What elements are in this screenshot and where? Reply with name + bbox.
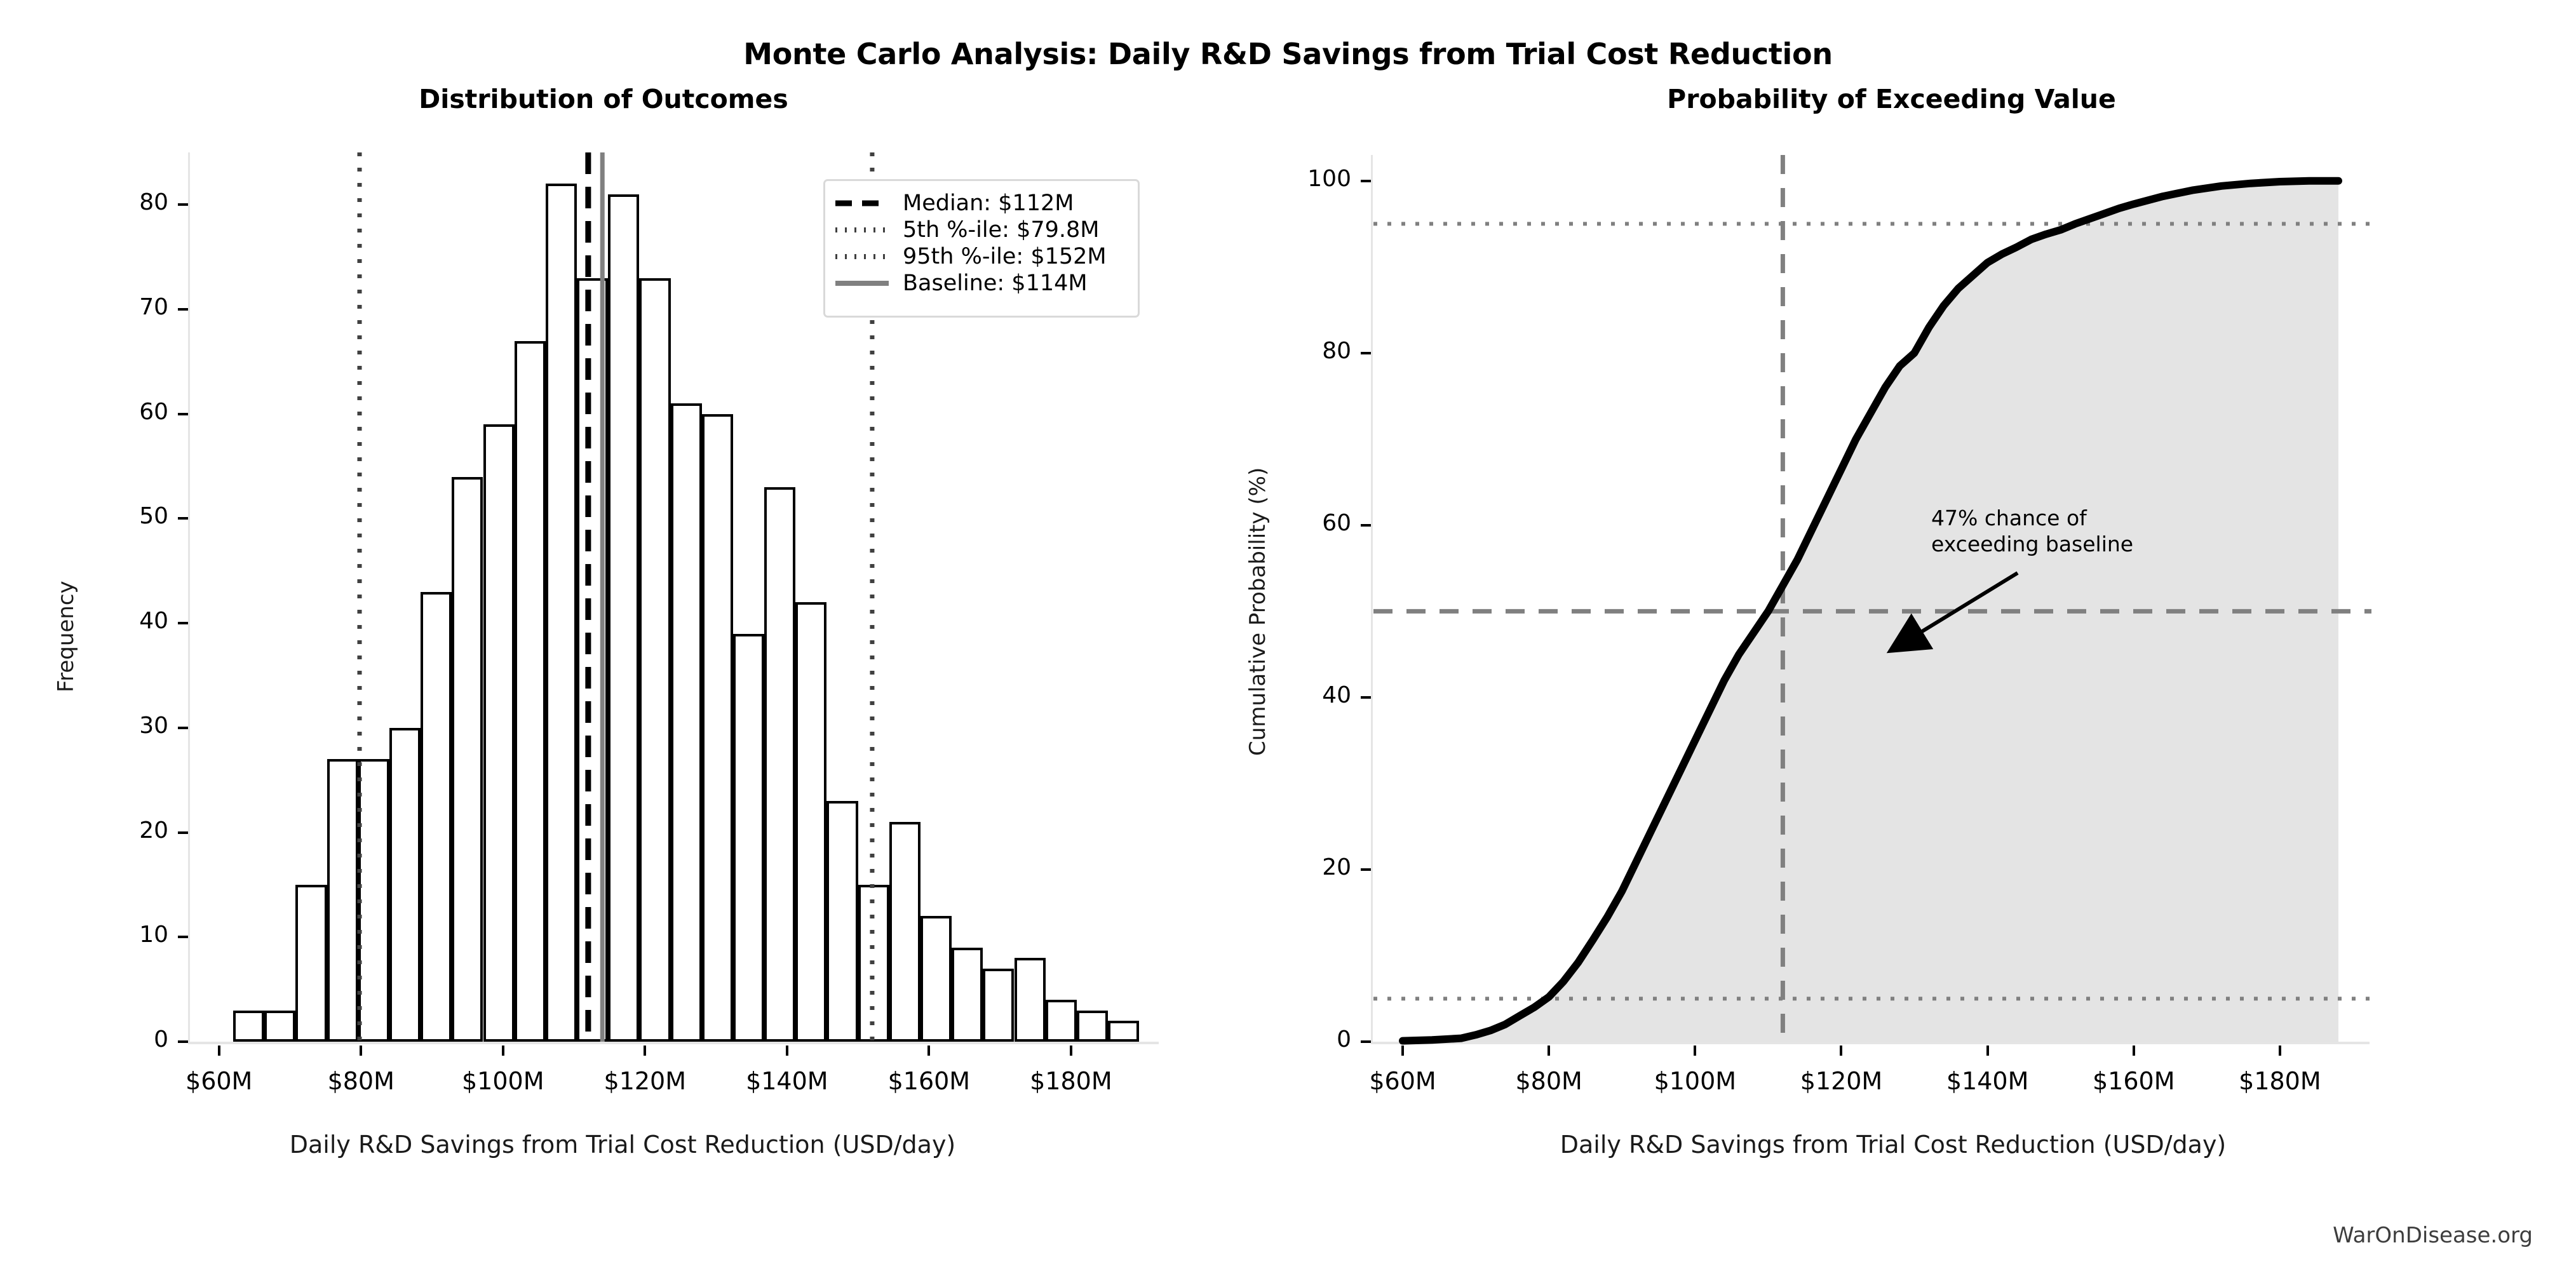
histogram-y-tick: [178, 936, 188, 938]
cdf-annotation-arrow: [1868, 565, 2033, 667]
cdf-y-tick-label: 100: [1253, 166, 1351, 192]
legend-label-p95: 95th %-ile: $152M: [903, 246, 1107, 268]
histogram-x-spine: [188, 1042, 1159, 1044]
legend-item-baseline: Baseline: $114M: [834, 270, 1126, 297]
cdf-y-spine: [1371, 155, 1373, 1042]
baseline-line-swatch: [834, 275, 890, 292]
cdf-y-tick: [1361, 696, 1371, 699]
cdf-y-tick: [1361, 1040, 1371, 1043]
histogram-y-tick-label: 50: [76, 503, 168, 529]
cdf-y-tick-label: 20: [1253, 854, 1351, 880]
histogram-y-tick: [178, 831, 188, 834]
cdf-x-axis-label: Daily R&D Savings from Trial Cost Reduct…: [1290, 1131, 2497, 1159]
p95-line-swatch: [834, 248, 890, 265]
histogram-y-tick-label: 20: [76, 817, 168, 844]
cdf-y-tick: [1361, 868, 1371, 871]
cdf-x-tick: [1694, 1046, 1696, 1056]
cdf-y-tick-label: 0: [1253, 1026, 1351, 1052]
legend-item-p95: 95th %-ile: $152M: [834, 243, 1126, 270]
histogram-y-tick: [178, 622, 188, 624]
histogram-y-tick-label: 70: [76, 294, 168, 320]
histogram-x-tick: [218, 1046, 220, 1056]
cdf-x-tick: [1986, 1046, 1989, 1056]
cdf-x-tick: [2133, 1046, 2135, 1056]
histogram-x-tick: [360, 1046, 362, 1056]
histogram-y-tick: [178, 1040, 188, 1043]
histogram-x-tick: [1070, 1046, 1072, 1056]
histogram-y-tick-label: 30: [76, 713, 168, 739]
cdf-x-tick: [2279, 1046, 2281, 1056]
histogram-x-tick-label: $180M: [976, 1067, 1166, 1095]
median-line-swatch: [834, 195, 890, 212]
cdf-annotation: 47% chance of exceeding baseline: [1931, 505, 2133, 558]
histogram-legend: Median: $112M 5th %-ile: $79.8M 95th %-i…: [823, 179, 1140, 318]
p5-line-swatch: [834, 222, 890, 238]
cdf-title: Probability of Exceeding Value: [1207, 84, 2576, 114]
cdf-y-tick-label: 40: [1253, 682, 1351, 708]
cdf-y-tick: [1361, 180, 1371, 182]
histogram-y-tick: [178, 727, 188, 729]
histogram-y-tick: [178, 413, 188, 415]
cdf-x-tick: [1548, 1046, 1550, 1056]
histogram-y-tick-label: 80: [76, 189, 168, 215]
histogram-y-tick-label: 0: [76, 1026, 168, 1052]
histogram-x-tick: [502, 1046, 504, 1056]
cdf-x-spine: [1371, 1042, 2370, 1044]
cdf-x-tick-label: $180M: [2185, 1067, 2375, 1095]
cdf-x-tick: [1401, 1046, 1404, 1056]
histogram-x-tick: [644, 1046, 646, 1056]
cdf-y-tick: [1361, 524, 1371, 527]
cdf-y-tick-label: 60: [1253, 510, 1351, 536]
histogram-title: Distribution of Outcomes: [0, 84, 1207, 114]
histogram-x-axis-label: Daily R&D Savings from Trial Cost Reduct…: [89, 1131, 1156, 1159]
figure-root: Monte Carlo Analysis: Daily R&D Savings …: [0, 0, 2576, 1271]
cdf-annotation-line1: 47% chance of: [1931, 505, 2133, 531]
cdf-y-tick-label: 80: [1253, 338, 1351, 364]
legend-label-median: Median: $112M: [903, 192, 1074, 215]
histogram-y-tick-label: 40: [76, 608, 168, 634]
cdf-x-tick: [1840, 1046, 1842, 1056]
histogram-y-spine: [188, 152, 190, 1042]
legend-item-median: Median: $112M: [834, 190, 1126, 217]
histogram-y-tick: [178, 517, 188, 520]
legend-item-p5: 5th %-ile: $79.8M: [834, 217, 1126, 243]
histogram-y-tick: [178, 308, 188, 311]
legend-label-baseline: Baseline: $114M: [903, 272, 1088, 295]
cdf-y-tick: [1361, 352, 1371, 354]
histogram-y-tick: [178, 203, 188, 206]
histogram-x-tick: [786, 1046, 788, 1056]
histogram-y-axis-label: Frequency: [53, 581, 79, 692]
histogram-y-tick-label: 60: [76, 399, 168, 425]
histogram-y-tick-label: 10: [76, 922, 168, 948]
cdf-panel: Probability of Exceeding Value Cumulativ…: [1207, 0, 2576, 1271]
footer-watermark: WarOnDisease.org: [2333, 1223, 2533, 1248]
histogram-x-tick: [927, 1046, 930, 1056]
histogram-panel: Distribution of Outcomes Frequency Daily…: [0, 0, 1207, 1271]
legend-label-p5: 5th %-ile: $79.8M: [903, 219, 1099, 241]
cdf-annotation-line2: exceeding baseline: [1931, 531, 2133, 557]
